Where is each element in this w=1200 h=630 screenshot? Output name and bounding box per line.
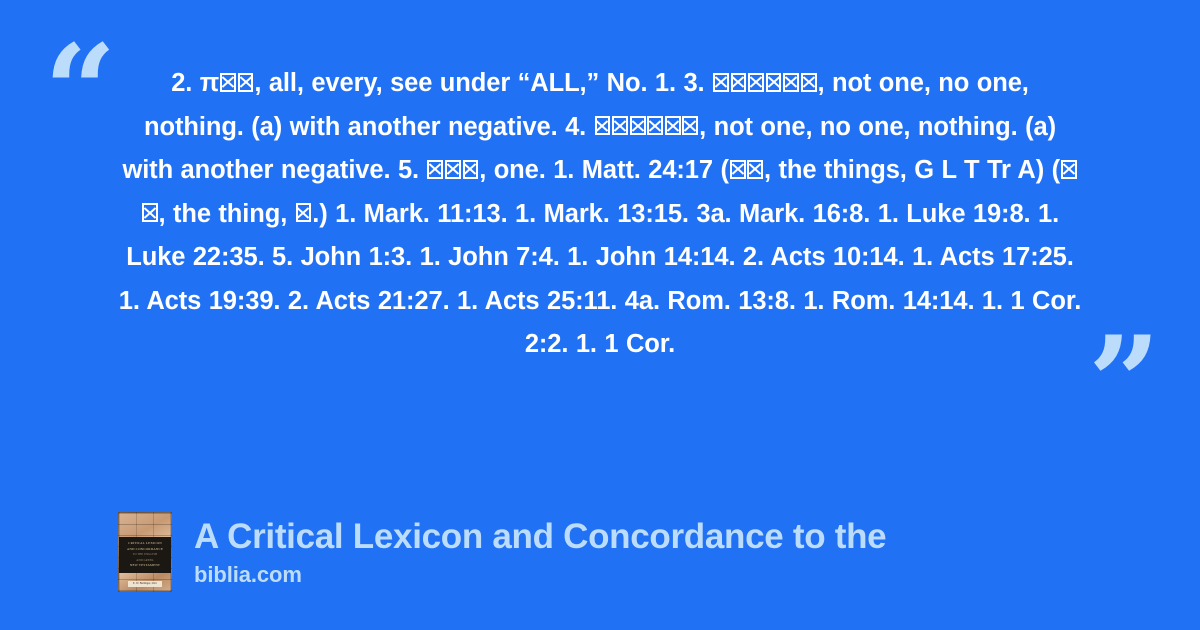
quote-text: 2. π, all, every, see under “ALL,” No. 1… [118, 62, 1082, 367]
missing-glyph-box [1061, 160, 1077, 179]
missing-glyph-box [630, 116, 646, 135]
missing-glyph-box [682, 116, 698, 135]
missing-glyph-box [747, 160, 763, 179]
missing-glyph-box [445, 160, 461, 179]
missing-glyph-box [730, 160, 746, 179]
closing-quote-icon: ” [1088, 320, 1158, 446]
missing-glyph-box [612, 116, 628, 135]
book-cover-author-band: E. W. Bullinger, D.D. [128, 581, 162, 587]
missing-glyph-box [766, 73, 782, 92]
quote-container: 2. π, all, every, see under “ALL,” No. 1… [0, 62, 1200, 367]
attribution-text-block: A Critical Lexicon and Concordance to th… [194, 515, 886, 590]
missing-glyph-box [731, 73, 747, 92]
missing-glyph-box [220, 73, 236, 92]
missing-glyph-box [713, 73, 729, 92]
missing-glyph-box [463, 160, 479, 179]
missing-glyph-box [238, 73, 254, 92]
missing-glyph-box [665, 116, 681, 135]
book-cover-title-line: NEW TESTAMENT [130, 563, 160, 568]
missing-glyph-box [142, 203, 158, 222]
source-url[interactable]: biblia.com [194, 560, 886, 590]
missing-glyph-box [296, 203, 312, 222]
attribution-footer: CRITICAL LEXICONAND CONCORDANCETO THE EN… [118, 512, 886, 592]
missing-glyph-box [647, 116, 663, 135]
missing-glyph-box [595, 116, 611, 135]
missing-glyph-box [427, 160, 443, 179]
missing-glyph-box [783, 73, 799, 92]
quote-card: “ 2. π, all, every, see under “ALL,” No.… [0, 0, 1200, 630]
book-cover-title-band: CRITICAL LEXICONAND CONCORDANCETO THE EN… [119, 537, 171, 573]
missing-glyph-box [801, 73, 817, 92]
missing-glyph-box [748, 73, 764, 92]
book-cover-thumbnail: CRITICAL LEXICONAND CONCORDANCETO THE EN… [118, 512, 172, 592]
book-cover-author: E. W. Bullinger, D.D. [133, 583, 157, 586]
source-title: A Critical Lexicon and Concordance to th… [194, 515, 886, 559]
